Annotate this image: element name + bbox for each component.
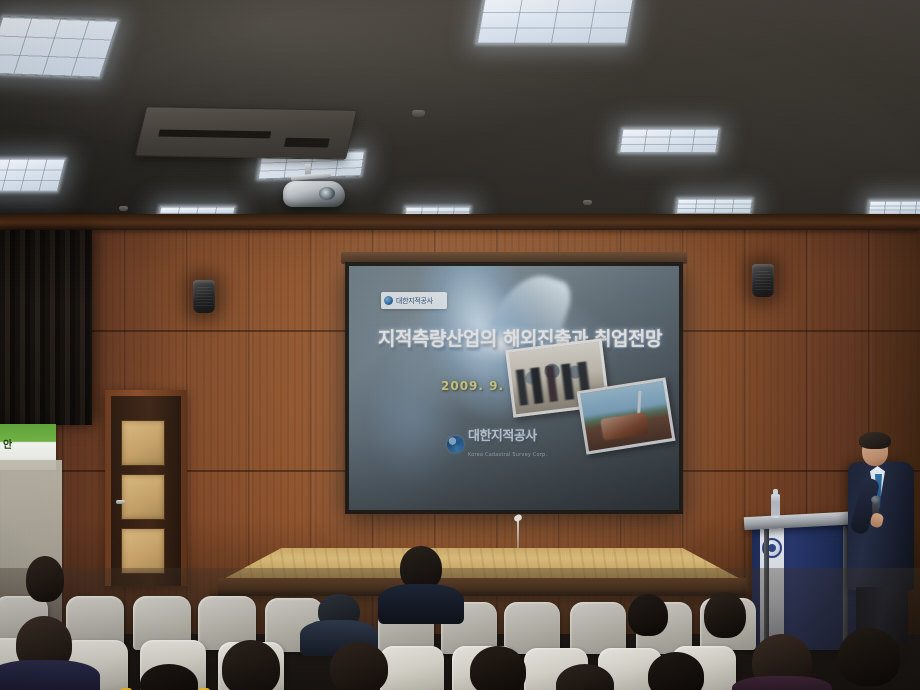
ceiling-light-panel <box>476 0 634 44</box>
water-bottle <box>771 494 780 518</box>
slide-corporate-logo: 대한지적공사 Korea Cadastral Survey Corp. <box>447 428 547 460</box>
slide-photo-survey <box>577 377 676 454</box>
audience-head <box>330 642 388 690</box>
projection-screen: 대한지적공사 지적측량산업의 해외진출과 취업전망 2009. 9. 24 대한… <box>349 266 679 510</box>
corporate-logo-sub: Korea Cadastral Survey Corp. <box>468 452 547 458</box>
auditorium-photo: 안 대한지적공사 지적측량산업의 해외진출과 취업전망 2009. 9. 24 <box>0 0 920 690</box>
projector-lens-icon <box>319 187 335 200</box>
ceiling-ac-vent-icon <box>135 106 358 160</box>
ceiling-light-panel <box>675 198 753 214</box>
survey-camera-icon <box>600 412 649 441</box>
ac-vent-slot <box>284 138 330 148</box>
slide-org-badge: 대한지적공사 <box>381 292 447 309</box>
exit-door[interactable] <box>105 390 187 586</box>
smoke-detector-icon <box>583 200 592 205</box>
audience-head <box>628 594 668 636</box>
wall-speaker-right <box>752 264 774 297</box>
projector-arm <box>291 172 331 181</box>
corporate-logo-main: 대한지적공사 <box>468 429 537 444</box>
slide-org-badge-text: 대한지적공사 <box>396 296 433 306</box>
slide-background-swoosh <box>355 350 485 500</box>
audience-shoulders <box>378 584 464 624</box>
ceiling-light-panel <box>0 16 119 78</box>
smoke-detector-icon <box>119 206 128 211</box>
door-handle[interactable] <box>116 500 125 504</box>
light-grid <box>619 129 718 152</box>
auditorium-seat[interactable] <box>380 646 444 690</box>
presenter-hair <box>859 432 891 449</box>
door-glass-panel <box>121 420 165 466</box>
door-leaf[interactable] <box>111 396 181 586</box>
light-grid <box>868 201 920 214</box>
audience-shoulders <box>732 676 832 690</box>
audience-head <box>470 646 526 690</box>
ceiling-light-panel <box>0 158 66 192</box>
slide-title: 지적측량산업의 해외진출과 취업전망 <box>367 324 673 351</box>
audience-head <box>838 628 900 686</box>
projection-screen-frame: 대한지적공사 지적측량산업의 해외진출과 취업전망 2009. 9. 24 대한… <box>345 262 683 514</box>
door-glass-panel <box>121 474 165 520</box>
light-grid <box>477 0 633 43</box>
projector-body <box>283 181 345 207</box>
audience-head <box>222 640 280 690</box>
badge-mark-icon <box>384 296 393 305</box>
audience-head <box>704 592 746 638</box>
ceiling-light-panel <box>618 128 720 153</box>
wall-cornice <box>0 214 920 230</box>
light-grid <box>676 199 752 213</box>
ac-vent-slot <box>158 129 271 138</box>
wall-sign-text: 안 <box>3 436 12 451</box>
corporate-logo-text: 대한지적공사 Korea Cadastral Survey Corp. <box>468 428 547 460</box>
window-curtain <box>0 230 92 425</box>
corporate-swirl-icon <box>447 436 464 453</box>
smoke-detector-icon <box>412 110 425 117</box>
auditorium-seat[interactable] <box>570 602 626 654</box>
light-grid <box>0 159 65 191</box>
ceiling <box>0 0 920 236</box>
ceiling-light-panel <box>867 200 920 215</box>
audience-area <box>0 568 920 690</box>
auditorium-seat[interactable] <box>504 602 560 654</box>
audience-head <box>26 556 64 602</box>
light-grid <box>0 17 117 77</box>
ceiling-projector <box>283 172 345 210</box>
wall-speaker-left <box>193 280 215 313</box>
audience-shoulders <box>0 660 100 690</box>
